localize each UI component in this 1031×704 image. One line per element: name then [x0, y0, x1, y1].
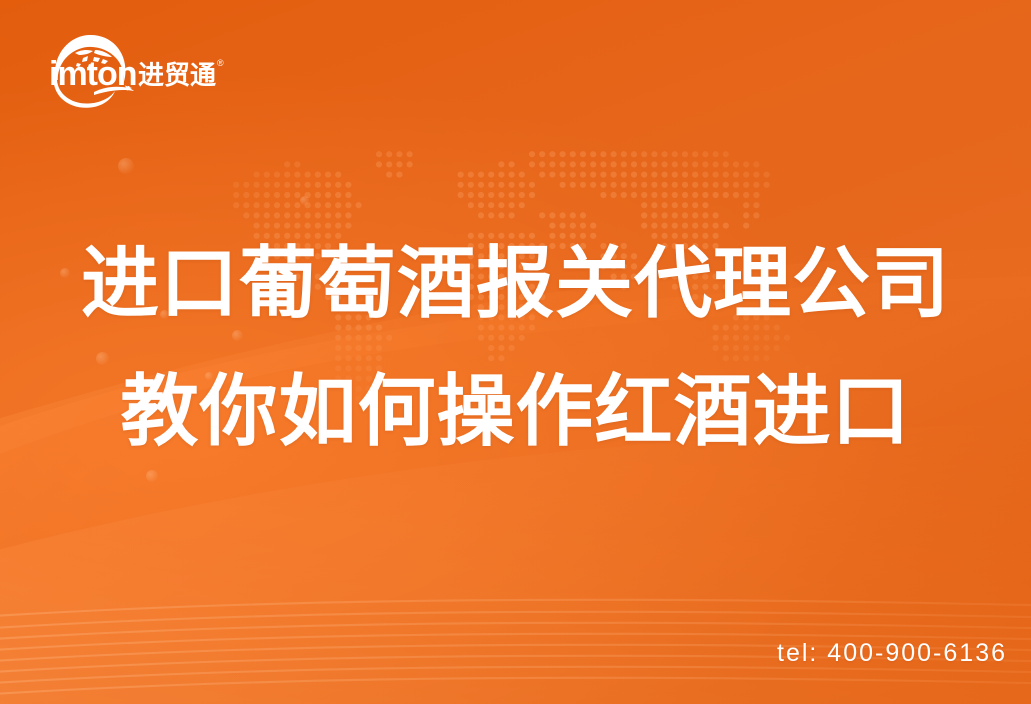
- contact-phone[interactable]: tel: 400-900-6136: [777, 639, 1007, 668]
- logo-latin-text: imton: [49, 55, 137, 93]
- headline-line-1: 进口葡萄酒报关代理公司: [0, 244, 1031, 322]
- promo-banner: imton 进贸通 ® imton 进贸通 进口葡萄酒报关代理公司 教你如何操作…: [0, 0, 1031, 704]
- trademark-icon: ®: [217, 58, 224, 68]
- brand-logo[interactable]: imton 进贸通 ® imton 进贸通: [42, 28, 232, 108]
- page-title: 进口葡萄酒报关代理公司 教你如何操作红酒进口: [0, 244, 1031, 450]
- logo-cn-text: 进贸通: [138, 61, 216, 91]
- headline-line-2: 教你如何操作红酒进口: [0, 372, 1031, 450]
